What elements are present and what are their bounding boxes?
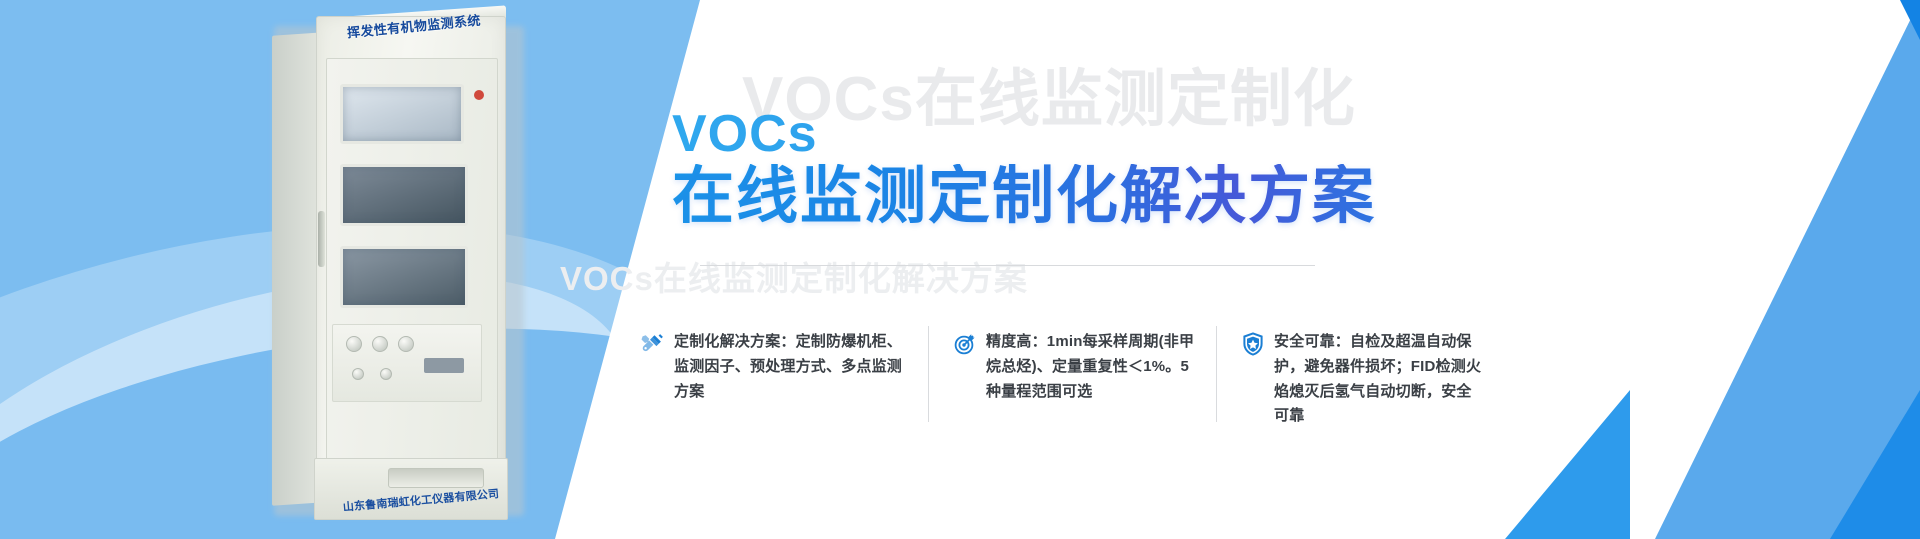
tools-wrench-screwdriver-icon bbox=[640, 331, 666, 357]
cabinet-knob bbox=[380, 368, 392, 380]
feature-text: 安全可靠：自检及超温自动保护，避免器件损坏；FID检测火焰熄灭后氢气自动切断，安… bbox=[1274, 330, 1486, 429]
cabinet-knob bbox=[352, 368, 364, 380]
feature-item: 定制化解决方案：定制防爆机柜、监测因子、预处理方式、多点监测方案 bbox=[640, 330, 928, 429]
feature-item: 精度高：1min每采样周期(非甲烷总烃)、定量重复性＜1%。5种量程范围可选 bbox=[928, 330, 1216, 429]
target-dart-icon bbox=[952, 331, 978, 357]
cabinet-display-middle bbox=[340, 164, 468, 226]
promo-banner: 挥发性有机物监测系统 山东鲁南瑞虹化工仪器有限公司 VOCs在线监测定制化 VO… bbox=[0, 0, 1920, 539]
headline-line-1: VOCs bbox=[672, 108, 1376, 160]
cabinet-display-bottom bbox=[340, 246, 468, 308]
cabinet-knob bbox=[398, 336, 414, 352]
feature-text: 精度高：1min每采样周期(非甲烷总烃)、定量重复性＜1%。5种量程范围可选 bbox=[986, 330, 1198, 404]
cabinet-knob bbox=[346, 336, 362, 352]
cabinet-knob bbox=[372, 336, 388, 352]
headline-line-2: 在线监测定制化解决方案 bbox=[672, 164, 1376, 229]
cabinet-display-top bbox=[340, 84, 464, 144]
cabinet-indicator-light bbox=[474, 90, 484, 100]
voc-monitoring-cabinet-image: 挥发性有机物监测系统 山东鲁南瑞虹化工仪器有限公司 bbox=[268, 6, 528, 526]
cabinet-readout bbox=[424, 358, 464, 373]
watermark-text-bottom: VOCs在线监测定制化解决方案 bbox=[560, 252, 1028, 300]
shield-star-icon bbox=[1240, 331, 1266, 357]
section-divider bbox=[700, 265, 1315, 266]
feature-item: 安全可靠：自检及超温自动保护，避免器件损坏；FID检测火焰熄灭后氢气自动切断，安… bbox=[1216, 330, 1504, 429]
feature-text: 定制化解决方案：定制防爆机柜、监测因子、预处理方式、多点监测方案 bbox=[674, 330, 910, 404]
cabinet-vent bbox=[388, 468, 484, 488]
cabinet-door-handle bbox=[318, 211, 325, 267]
headline-block: VOCs 在线监测定制化解决方案 bbox=[672, 108, 1376, 229]
feature-list: 定制化解决方案：定制防爆机柜、监测因子、预处理方式、多点监测方案 精度高：1mi… bbox=[640, 330, 1504, 429]
